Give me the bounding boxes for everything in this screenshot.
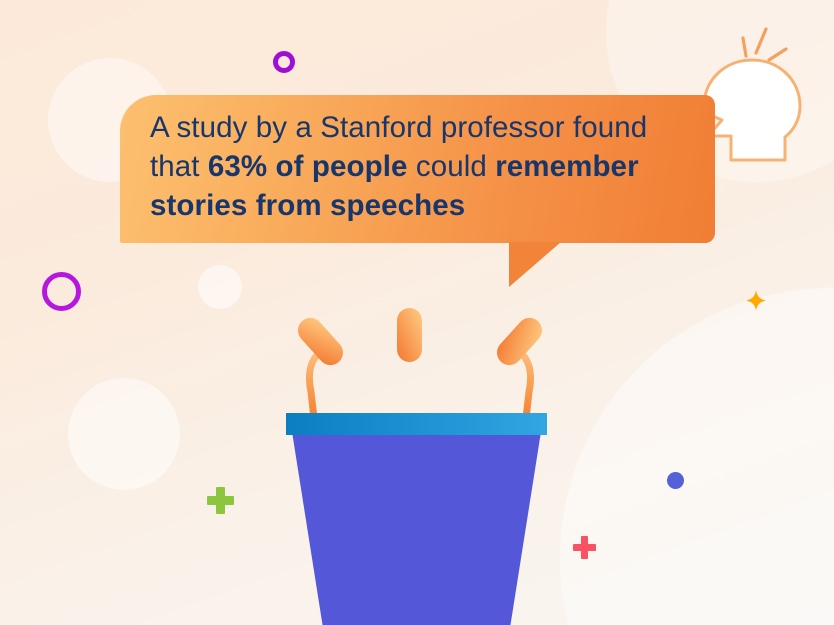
head-outline — [704, 60, 800, 160]
microphone-center — [397, 308, 422, 423]
callout-text: A study by a Stanford professor found th… — [150, 108, 695, 225]
microphone-group — [280, 300, 560, 425]
background-circle-bottom-right — [560, 288, 834, 625]
callout-emphasis: 63% of people — [208, 150, 408, 183]
microphone-right — [492, 313, 547, 418]
background-circle-middle — [198, 265, 242, 309]
callout-plain: could — [408, 150, 496, 183]
podium-body — [286, 435, 547, 625]
plus-red-icon — [573, 536, 596, 559]
plus-green-icon — [207, 487, 234, 514]
microphone-left — [293, 313, 348, 418]
background-circle-bottom-left — [68, 378, 180, 490]
ring-purple-small-icon — [273, 51, 295, 73]
infographic-canvas: A study by a Stanford professor found th… — [0, 0, 834, 625]
podium-top-bar — [286, 413, 547, 435]
idea-spark-icon — [743, 29, 786, 60]
star-gold-icon — [746, 290, 766, 311]
ring-purple-large-icon — [42, 272, 81, 311]
dot-blue-icon — [667, 472, 684, 489]
speech-bubble-tail — [509, 242, 561, 287]
